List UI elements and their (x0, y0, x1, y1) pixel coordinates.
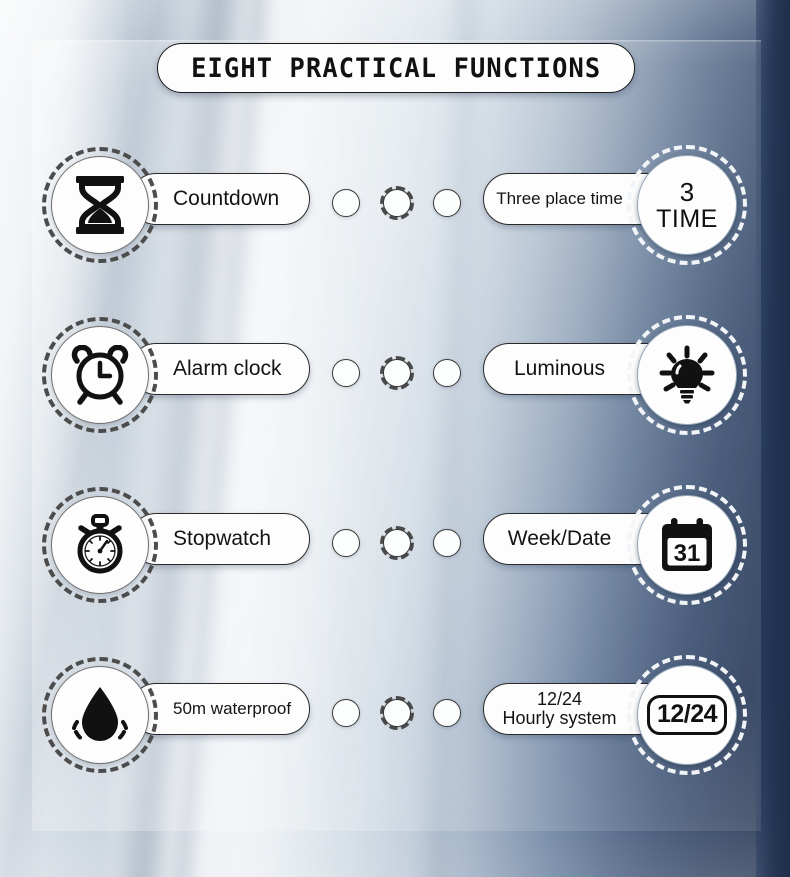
feature-icon-badge-waterproof[interactable] (42, 657, 158, 773)
connector-dot-left (332, 699, 360, 727)
connector-dot-left (332, 189, 360, 217)
feature-label-text: Countdown (173, 187, 279, 211)
feature-label-line2: Hourly system (502, 709, 616, 728)
12-24-badge-icon: 12/24 (647, 695, 727, 735)
connector-dot-core (383, 189, 411, 217)
connector-dot-core (383, 359, 411, 387)
icon-disc (51, 666, 149, 764)
feature-icon-badge-luminous[interactable] (627, 315, 747, 435)
calendar-31-icon: 31 (658, 516, 716, 574)
connector-dot-right (433, 359, 461, 387)
connector-dot-right (433, 699, 461, 727)
feature-label-text: Week/Date (508, 528, 612, 551)
infographic-stage: EIGHT PRACTICAL FUNCTIONS Countdown (0, 0, 790, 877)
feature-icon-badge-stopwatch[interactable] (42, 487, 158, 603)
feature-row: Countdown Three place time 3 TIME (0, 120, 790, 290)
feature-label-text: 12/24 Hourly system (502, 690, 616, 729)
connector-dot-core (383, 699, 411, 727)
feature-label-text: Three place time (496, 190, 623, 208)
connector-dot-left (332, 359, 360, 387)
3-time-text-icon: 3 TIME (656, 179, 718, 232)
icon-disc (637, 325, 737, 425)
connector-dots (332, 696, 462, 730)
connector-dot-middle (380, 186, 414, 220)
connector-dot-core (383, 529, 411, 557)
water-drop-icon (67, 684, 133, 746)
lightbulb-icon (656, 344, 718, 406)
connector-dots (332, 186, 462, 220)
feature-label-line1: 12/24 (502, 690, 616, 709)
icon-disc (51, 326, 149, 424)
page-title-text: EIGHT PRACTICAL FUNCTIONS (191, 53, 601, 84)
feature-label-text: 50m waterproof (173, 699, 291, 719)
feature-icon-badge-three-place-time[interactable]: 3 TIME (627, 145, 747, 265)
connector-dot-right (433, 189, 461, 217)
feature-icon-badge-alarm-clock[interactable] (42, 317, 158, 433)
feature-icon-badge-week-date[interactable]: 31 (627, 485, 747, 605)
stopwatch-icon (69, 514, 131, 576)
feature-icon-badge-hourly-system[interactable]: 12/24 (627, 655, 747, 775)
connector-dot-right (433, 529, 461, 557)
icon-disc: 3 TIME (637, 155, 737, 255)
feature-icon-badge-countdown[interactable] (42, 147, 158, 263)
hourglass-icon (72, 174, 128, 236)
connector-dot-left (332, 529, 360, 557)
feature-label-text: Alarm clock (173, 357, 282, 381)
icon-disc: 12/24 (637, 665, 737, 765)
feature-row: Alarm clock Luminous (0, 290, 790, 460)
alarm-clock-icon (69, 345, 131, 405)
icon-disc (51, 496, 149, 594)
feature-row: 50m waterproof 12/24 Hourly system 12/24 (0, 630, 790, 800)
icon-disc: 31 (637, 495, 737, 595)
feature-row: Stopwatch Week/Date 31 (0, 460, 790, 630)
calendar-day-number: 31 (674, 540, 701, 567)
icon-disc (51, 156, 149, 254)
three-time-line1: 3 (656, 179, 718, 205)
connector-dots (332, 356, 462, 390)
feature-label-text: Stopwatch (173, 527, 271, 551)
connector-dot-middle (380, 356, 414, 390)
connector-dot-middle (380, 526, 414, 560)
feature-label-text: Luminous (514, 358, 605, 381)
page-title: EIGHT PRACTICAL FUNCTIONS (157, 43, 635, 93)
connector-dot-middle (380, 696, 414, 730)
three-time-line2: TIME (656, 207, 718, 232)
connector-dots (332, 526, 462, 560)
